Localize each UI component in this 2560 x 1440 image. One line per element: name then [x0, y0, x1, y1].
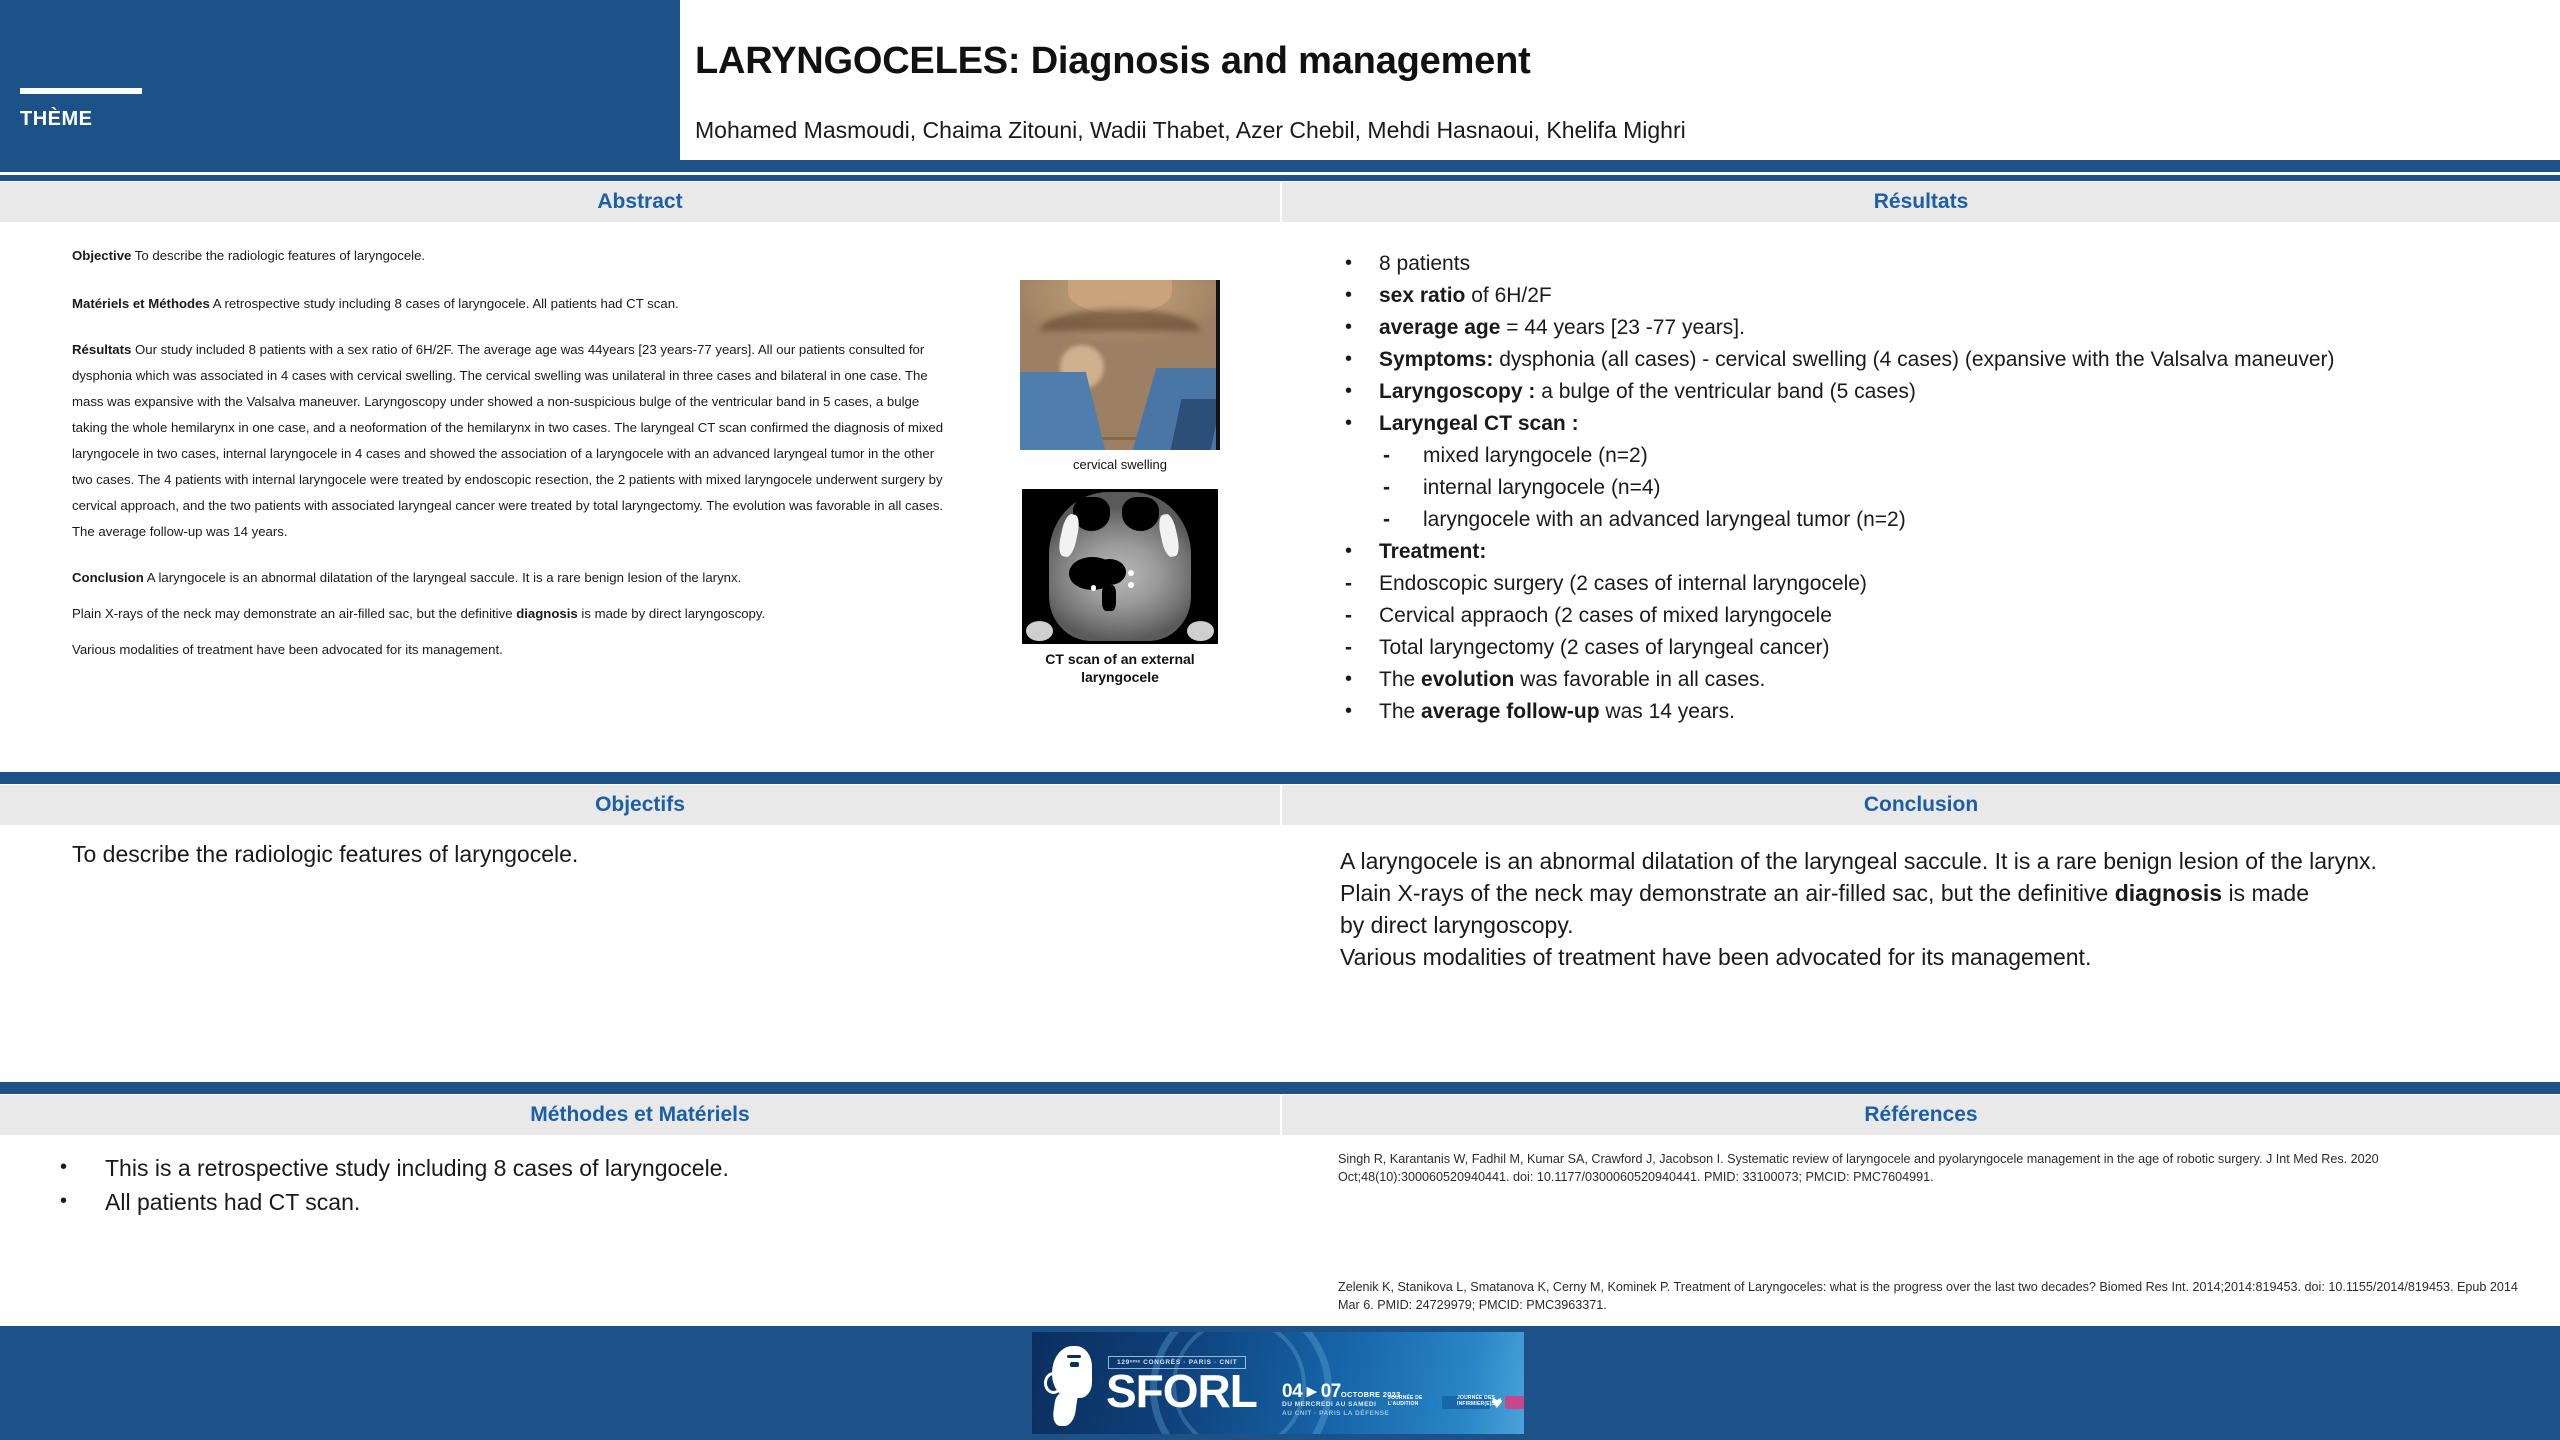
results-bullet-item: •Laryngoscopy : a bulge of the ventricul…	[1345, 376, 2535, 407]
sforl-head-profile-icon	[1040, 1342, 1102, 1428]
header-rule-blue-thin	[0, 175, 2560, 181]
results-item-text: sex ratio of 6H/2F	[1379, 280, 2535, 311]
objectifs-text: To describe the radiologic features of l…	[72, 838, 578, 870]
section-header-abstract-label: Abstract	[597, 190, 682, 214]
ct-scan-icon	[1022, 489, 1218, 644]
banner-subline-1: DU MERCREDI AU SAMEDI	[1282, 1400, 1389, 1409]
theme-rule-divider	[20, 88, 142, 94]
methodes-item-text: This is a retrospective study including …	[105, 1152, 1210, 1185]
results-bullet-item: •average age = 44 years [23 -77 years].	[1345, 312, 2535, 343]
results-item-text: Symptoms: dysphonia (all cases) - cervic…	[1379, 344, 2535, 375]
dash-marker-icon: -	[1383, 472, 1423, 503]
abstract-results: Résultats Our study included 8 patients …	[72, 337, 947, 545]
results-item-text: mixed laryngocele (n=2)	[1423, 440, 1648, 471]
results-item-text: Total laryngectomy (2 cases of laryngeal…	[1379, 632, 1830, 663]
abstract-conclusion-text: A laryngocele is an abnormal dilatation …	[144, 570, 741, 585]
bullet-dot-icon: •	[60, 1186, 105, 1217]
references-list: Singh R, Karantanis W, Fadhil M, Kumar S…	[1338, 1150, 2518, 1314]
bullet-dot-icon: •	[1345, 696, 1379, 727]
abstract-conclusion-line2-a: Plain X-rays of the neck may demonstrate…	[72, 606, 516, 621]
methodes-bullet-item: •This is a retrospective study including…	[60, 1152, 1210, 1185]
figure-ct-wrapper: CT scan of an external laryngocele	[1020, 489, 1220, 686]
abstract-results-label: Résultats	[72, 342, 131, 357]
section-header-resultats: Résultats	[1282, 182, 2560, 222]
banner-subline-group: DU MERCREDI AU SAMEDI AU CNIT · PARIS LA…	[1282, 1400, 1389, 1418]
figure-ct-image	[1022, 489, 1218, 644]
dash-marker-icon: -	[1345, 632, 1379, 663]
results-item-text: laryngocele with an advanced laryngeal t…	[1423, 504, 1906, 535]
conclusion-line-2: Plain X-rays of the neck may demonstrate…	[1340, 877, 2490, 909]
results-bullet-item: •Laryngeal CT scan :	[1345, 408, 2535, 439]
section-header-abstract: Abstract	[0, 182, 1280, 222]
dash-marker-icon: -	[1383, 440, 1423, 471]
results-bullet-item: •The average follow-up was 14 years.	[1345, 696, 2535, 727]
abstract-conclusion-line1: Conclusion A laryngocele is an abnormal …	[72, 565, 947, 591]
banner-badge-audition-line2: L'AUDITION	[1388, 1401, 1423, 1407]
abstract-body: Objective To describe the radiologic fea…	[72, 243, 947, 673]
dash-marker-icon: -	[1345, 568, 1379, 599]
abstract-methods: Matériels et Méthodes A retrospective st…	[72, 291, 947, 317]
results-item-text: Cervical appraoch (2 cases of mixed lary…	[1379, 600, 1832, 631]
poster-canvas: THÈME LARYNGOCELES: Diagnosis and manage…	[0, 0, 2560, 1440]
results-item-text: Laryngoscopy : a bulge of the ventricula…	[1379, 376, 2535, 407]
abstract-conclusion-group: Conclusion A laryngocele is an abnormal …	[72, 565, 947, 663]
abstract-conclusion-line2-c: is made by direct laryngoscopy.	[578, 606, 765, 621]
bullet-dot-icon: •	[1345, 280, 1379, 311]
section-header-conclusion: Conclusion	[1282, 785, 2560, 825]
bullet-dot-icon: •	[1345, 344, 1379, 375]
reference-item-2: Zelenik K, Stanikova L, Smatanova K, Cer…	[1338, 1278, 2518, 1314]
conclusion-line-2-c: is made	[2222, 880, 2309, 906]
results-item-text: average age = 44 years [23 -77 years].	[1379, 312, 2535, 343]
results-list: •8 patients•sex ratio of 6H/2F•average a…	[1345, 248, 2535, 728]
methodes-bullet-item: • All patients had CT scan.	[60, 1186, 1210, 1219]
author-list: Mohamed Masmoudi, Chaima Zitouni, Wadii …	[695, 117, 1686, 144]
bullet-dot-icon: •	[1345, 664, 1379, 695]
section-header-objectifs-label: Objectifs	[595, 793, 685, 817]
results-bullet-item: •8 patients	[1345, 248, 2535, 279]
results-subdash-item: -internal laryngocele (n=4)	[1383, 472, 2535, 503]
reference-item-1: Singh R, Karantanis W, Fadhil M, Kumar S…	[1338, 1150, 2518, 1186]
results-subdash-item: -laryngocele with an advanced laryngeal …	[1383, 504, 2535, 535]
bullet-dot-icon: •	[1345, 248, 1379, 279]
abstract-objective: Objective To describe the radiologic fea…	[72, 243, 947, 269]
figure-caption-ct-scan: CT scan of an external laryngocele	[1020, 650, 1220, 686]
theme-label: THÈME	[20, 108, 93, 131]
abstract-methods-text: A retrospective study including 8 cases …	[210, 296, 679, 311]
abstract-methods-label: Matériels et Méthodes	[72, 296, 210, 311]
results-item-text: The average follow-up was 14 years.	[1379, 696, 2535, 727]
results-item-text: internal laryngocele (n=4)	[1423, 472, 1661, 503]
figure-cervical-swelling-image	[1020, 280, 1220, 450]
section-header-conclusion-label: Conclusion	[1864, 793, 1978, 817]
dash-marker-icon: -	[1345, 600, 1379, 631]
results-bullet-item: •The evolution was favorable in all case…	[1345, 664, 2535, 695]
banner-badge-infirmieres-line2: INFIRMIER(E)S	[1457, 1401, 1495, 1407]
section-header-methodes: Méthodes et Matériels	[0, 1095, 1280, 1135]
figure-column: cervical swelling	[1020, 280, 1220, 686]
banner-dates-range: 04 ▸ 07	[1282, 1381, 1341, 1402]
sforl-logo-text: SFORL	[1106, 1368, 1257, 1414]
band2-rule-blue	[0, 772, 2560, 784]
conclusion-line-2-bold: diagnosis	[2115, 880, 2222, 906]
theme-block: THÈME	[0, 0, 680, 160]
section-header-methodes-label: Méthodes et Matériels	[530, 1103, 749, 1127]
results-dash-item: -Cervical appraoch (2 cases of mixed lar…	[1345, 600, 2535, 631]
results-subdash-item: -mixed laryngocele (n=2)	[1383, 440, 2535, 471]
section-header-references: Références	[1282, 1095, 2560, 1135]
results-dash-item: -Endoscopic surgery (2 cases of internal…	[1345, 568, 2535, 599]
results-bullet-item: •Treatment:	[1345, 536, 2535, 567]
sforl-congress-banner: 129ᵉᵐᵉ CONGRÈS · PARIS · CNIT SFORL 04 ▸…	[1032, 1332, 1524, 1434]
results-item-text: 8 patients	[1379, 248, 2535, 279]
results-item-text: Treatment:	[1379, 536, 2535, 567]
results-bullet-item: •Symptoms: dysphonia (all cases) - cervi…	[1345, 344, 2535, 375]
dash-marker-icon: -	[1383, 504, 1423, 535]
banner-badge-audition-circle-icon	[1427, 1397, 1439, 1409]
abstract-results-text: Our study included 8 patients with a sex…	[72, 342, 943, 539]
methodes-item-text: All patients had CT scan.	[105, 1186, 1210, 1219]
section-header-objectifs: Objectifs	[0, 785, 1280, 825]
banner-badge-infirmieres: JOURNÉE DES INFIRMIER(E)S	[1457, 1395, 1495, 1407]
conclusion-line-2-a: Plain X-rays of the neck may demonstrate…	[1340, 880, 2115, 906]
bullet-dot-icon: •	[60, 1152, 105, 1183]
conclusion-text: A laryngocele is an abnormal dilatation …	[1340, 845, 2490, 973]
bullet-dot-icon: •	[1345, 536, 1379, 567]
abstract-conclusion-label: Conclusion	[72, 570, 144, 585]
abstract-conclusion-line2-bold: diagnosis	[516, 606, 578, 621]
page-title: LARYNGOCELES: Diagnosis and management	[695, 40, 1531, 83]
banner-badge-audition: JOURNÉE DE L'AUDITION	[1388, 1395, 1423, 1407]
results-item-text: Endoscopic surgery (2 cases of internal …	[1379, 568, 1867, 599]
section-header-resultats-label: Résultats	[1874, 190, 1969, 214]
abstract-conclusion-line2: Plain X-rays of the neck may demonstrate…	[72, 601, 947, 627]
abstract-objective-text: To describe the radiologic features of l…	[131, 248, 425, 263]
band3-rule-blue	[0, 1082, 2560, 1094]
poster-header: THÈME LARYNGOCELES: Diagnosis and manage…	[0, 0, 2560, 160]
clinical-photo-icon	[1020, 280, 1220, 450]
conclusion-line-3: by direct laryngoscopy.	[1340, 909, 2490, 941]
results-dash-item: -Total laryngectomy (2 cases of laryngea…	[1345, 632, 2535, 663]
banner-subline-2: AU CNIT · PARIS LA DÉFENSE	[1282, 1409, 1389, 1418]
bullet-dot-icon: •	[1345, 408, 1379, 439]
results-bullet-item: •sex ratio of 6H/2F	[1345, 280, 2535, 311]
header-rule-blue	[0, 160, 2560, 172]
results-item-text: Laryngeal CT scan :	[1379, 408, 2535, 439]
methodes-list: •This is a retrospective study including…	[60, 1152, 1210, 1220]
figure-caption-cervical-swelling: cervical swelling	[1020, 456, 1220, 473]
conclusion-line-4: Various modalities of treatment have bee…	[1340, 941, 2490, 973]
results-item-text: The evolution was favorable in all cases…	[1379, 664, 2535, 695]
conclusion-line-1: A laryngocele is an abnormal dilatation …	[1340, 845, 2490, 877]
section-header-references-label: Références	[1864, 1103, 1977, 1127]
abstract-objective-label: Objective	[72, 248, 131, 263]
banner-badge-infirmieres-pill	[1505, 1396, 1524, 1409]
bullet-dot-icon: •	[1345, 312, 1379, 343]
bullet-dot-icon: •	[1345, 376, 1379, 407]
abstract-conclusion-line3: Various modalities of treatment have bee…	[72, 637, 947, 663]
